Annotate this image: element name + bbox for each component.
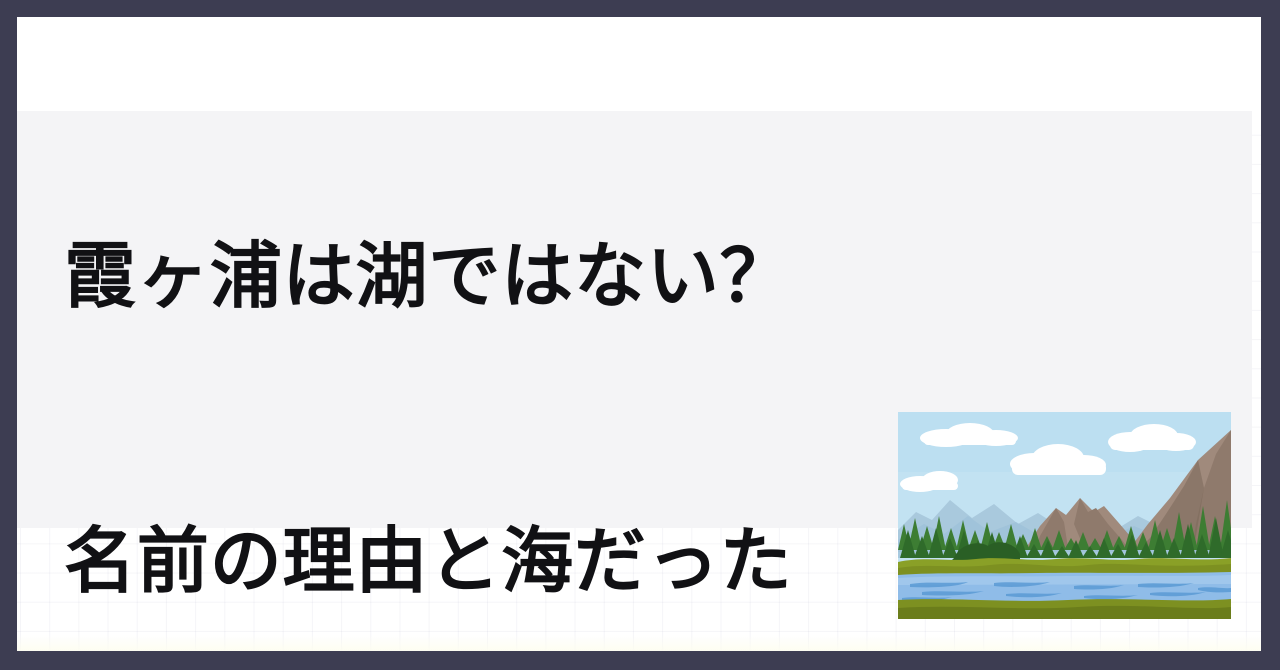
outer-frame: 霞ヶ浦は湖ではない？ 名前の理由と海だった 歴史を解説 bbox=[0, 0, 1280, 670]
lake-landscape-image bbox=[898, 412, 1231, 619]
page-title-line-1: 霞ヶ浦は湖ではない？ bbox=[64, 229, 1064, 324]
grass-bank-lower-shade bbox=[898, 606, 1231, 619]
page-canvas: 霞ヶ浦は湖ではない？ 名前の理由と海だった 歴史を解説 bbox=[17, 17, 1261, 651]
lake-illustration-svg bbox=[898, 412, 1231, 619]
